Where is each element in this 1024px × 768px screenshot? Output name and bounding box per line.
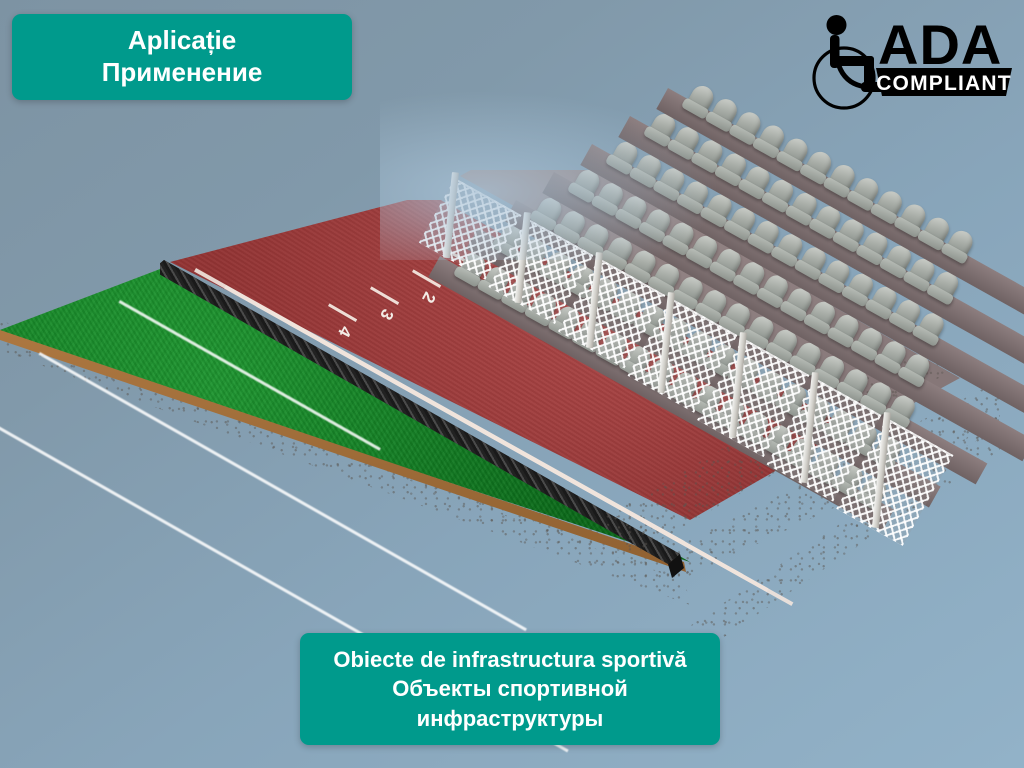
application-banner-line-ro: Aplicație (12, 25, 352, 57)
compliant-badge: COMPLIANT (876, 68, 1012, 96)
ada-compliant-logo: ADA COMPLIANT (806, 6, 1018, 110)
ada-wordmark: ADA (878, 13, 1002, 76)
application-banner: Aplicație Применение (12, 14, 352, 100)
caption-banner: Obiecte de infrastructura sportivă Объек… (300, 633, 720, 745)
slide-root: 1234 Aplicație Применение Obiecte de inf… (0, 0, 1024, 768)
application-banner-line-ru: Применение (12, 57, 352, 89)
caption-line-ro: Obiecte de infrastructura sportivă (310, 645, 710, 674)
caption-line-ru-1: Объекты спортивной (310, 674, 710, 703)
stadium-seat (945, 227, 977, 260)
svg-text:COMPLIANT: COMPLIANT (876, 72, 1012, 95)
svg-text:ADA: ADA (878, 13, 1002, 76)
caption-line-ru-2: инфраструктуры (310, 704, 710, 733)
